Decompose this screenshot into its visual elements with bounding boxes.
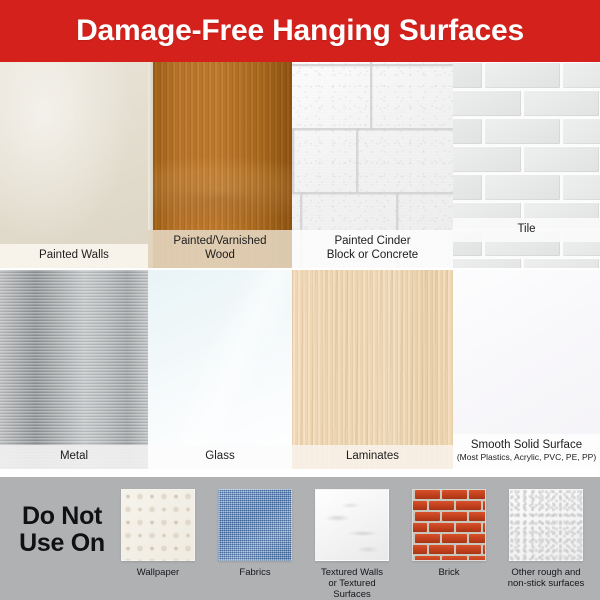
do-not-use-label-rough-line2: non-stick surfaces xyxy=(508,578,585,589)
surface-label-laminates: Laminates xyxy=(346,450,399,462)
do-not-use-label-wallpaper-line1: Wallpaper xyxy=(137,567,179,578)
do-not-use-item-brick: Brick xyxy=(408,489,490,578)
do-not-use-item-wallpaper: Wallpaper xyxy=(117,489,199,578)
wallpaper-texture xyxy=(121,489,195,561)
surface-cell-glass: Glass xyxy=(148,270,292,469)
do-not-use-item-textured-walls: Textured Walls or Textured Surfaces xyxy=(311,489,393,600)
do-not-use-title-line2: Use On xyxy=(19,529,105,557)
approved-surfaces-grid: Painted Walls Painted/Varnished Wood xyxy=(0,62,600,477)
damage-free-hanging-surfaces-infographic: Damage-Free Hanging Surfaces Painted Wal… xyxy=(0,0,600,600)
surface-label-cinder-line1: Painted Cinder xyxy=(334,235,410,247)
surface-sublabel-smooth-solid: (Most Plastics, Acrylic, PVC, PE, PP) xyxy=(455,452,598,463)
do-not-use-label-wallpaper: Wallpaper xyxy=(117,567,199,578)
do-not-use-label-brick: Brick xyxy=(408,567,490,578)
do-not-use-item-rough-surfaces: Other rough and non-stick surfaces xyxy=(505,489,587,589)
laminate-texture xyxy=(292,270,453,469)
surface-label-metal: Metal xyxy=(60,450,88,462)
surface-caption-painted-walls: Painted Walls xyxy=(0,244,148,269)
do-not-use-title-line1: Do Not xyxy=(22,502,102,530)
surface-cell-metal: Metal xyxy=(0,270,148,469)
header-banner: Damage-Free Hanging Surfaces xyxy=(0,0,600,62)
do-not-use-label-brick-line1: Brick xyxy=(438,567,459,578)
surface-label-painted-walls: Painted Walls xyxy=(39,249,109,261)
do-not-use-item-fabrics: Fabrics xyxy=(214,489,296,578)
surface-cell-smooth-solid: Smooth Solid Surface (Most Plastics, Acr… xyxy=(453,270,600,469)
surface-caption-metal: Metal xyxy=(0,445,148,470)
do-not-use-section: Do Not Use On Wallpaper Fabrics Textured… xyxy=(0,477,600,600)
brick-texture xyxy=(412,489,486,561)
surface-caption-cinder-block: Painted Cinder Block or Concrete xyxy=(292,230,453,268)
surface-caption-wood: Painted/Varnished Wood xyxy=(148,230,292,268)
do-not-use-label-textured-line1: Textured Walls xyxy=(321,567,383,578)
do-not-use-label-rough-line1: Other rough and xyxy=(511,567,580,578)
surface-label-cinder-line2: Block or Concrete xyxy=(327,249,418,261)
page-title: Damage-Free Hanging Surfaces xyxy=(76,14,524,48)
surface-cell-laminates: Laminates xyxy=(292,270,453,469)
do-not-use-label-textured-walls: Textured Walls or Textured Surfaces xyxy=(311,567,393,600)
do-not-use-title: Do Not Use On xyxy=(6,503,118,557)
surface-cell-painted-walls: Painted Walls xyxy=(0,62,148,268)
surface-label-wood-line1: Painted/Varnished xyxy=(173,235,266,247)
surface-label-glass: Glass xyxy=(205,450,234,462)
surface-label-wood-line2: Wood xyxy=(205,249,235,261)
surface-caption-smooth-solid: Smooth Solid Surface (Most Plastics, Acr… xyxy=(453,434,600,470)
do-not-use-label-fabrics: Fabrics xyxy=(214,567,296,578)
textured-wall-texture xyxy=(315,489,389,561)
surface-caption-tile: Tile xyxy=(453,218,600,243)
surface-caption-laminates: Laminates xyxy=(292,445,453,470)
surface-cell-wood: Painted/Varnished Wood xyxy=(148,62,292,268)
surface-caption-glass: Glass xyxy=(148,445,292,470)
painted-wall-texture xyxy=(0,62,148,268)
rough-surface-texture xyxy=(509,489,583,561)
do-not-use-label-textured-line2: or Textured Surfaces xyxy=(328,578,375,600)
glass-sheen-overlay xyxy=(148,270,292,469)
fabric-texture xyxy=(218,489,292,561)
do-not-use-label-rough-surfaces: Other rough and non-stick surfaces xyxy=(505,567,587,589)
surface-cell-tile: Tile xyxy=(453,62,600,268)
do-not-use-label-fabrics-line1: Fabrics xyxy=(239,567,270,578)
surface-label-smooth-solid: Smooth Solid Surface xyxy=(471,439,582,451)
surface-label-tile: Tile xyxy=(517,223,535,235)
brushed-metal-texture xyxy=(0,270,148,469)
surface-cell-cinder-block: Painted Cinder Block or Concrete xyxy=(292,62,453,268)
